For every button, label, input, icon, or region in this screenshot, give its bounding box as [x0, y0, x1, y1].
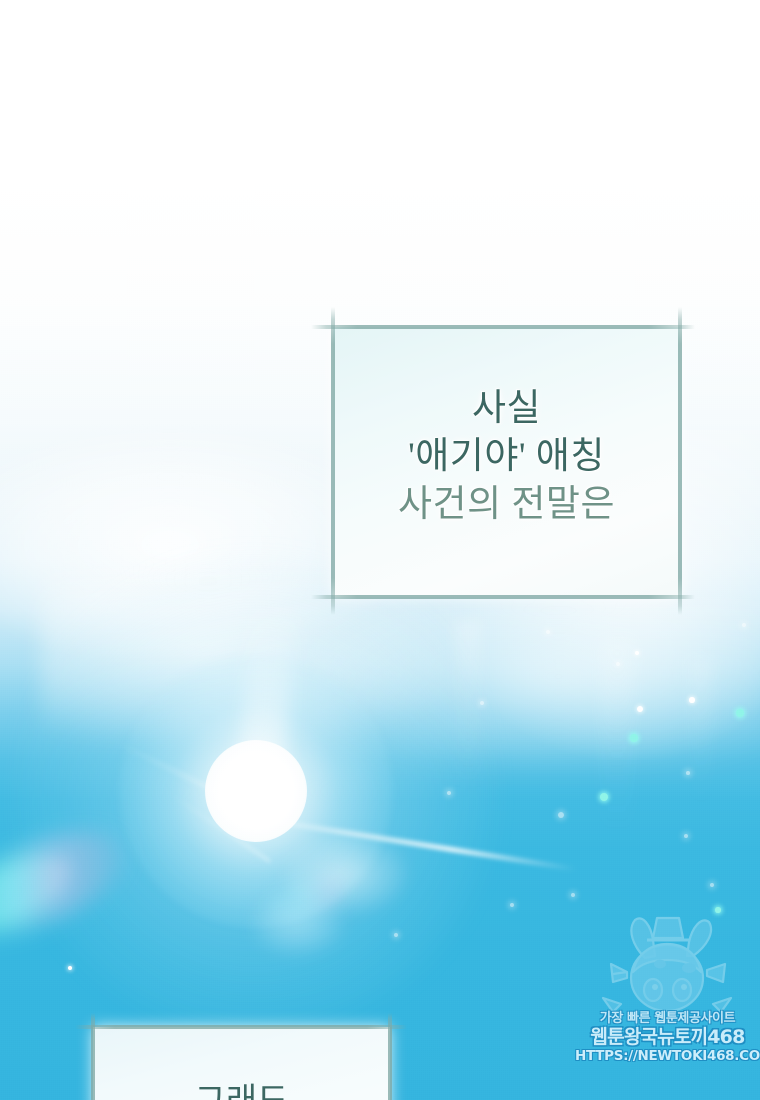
panel-border-top: [311, 325, 695, 329]
sparkle-9: [558, 812, 564, 818]
bottom-panel-text: 그래도: [93, 1073, 390, 1100]
sparkle-7: [686, 771, 690, 775]
panel-border-bottom: [311, 595, 695, 599]
bottom-panel-border-top: [75, 1025, 407, 1029]
sparkle-2: [616, 662, 620, 666]
sparkle-10: [684, 834, 688, 838]
narration-line-2: '애기야' 애칭: [333, 433, 680, 481]
bottom-panel: 그래도: [93, 1027, 390, 1100]
narration-line-1: 사실: [333, 385, 680, 433]
sparkle-14: [480, 701, 484, 705]
narration-panel: 사실 '애기야' 애칭 사건의 전말은: [333, 327, 680, 597]
narration-text: 사실 '애기야' 애칭 사건의 전말은: [333, 385, 680, 529]
sparkle-13: [715, 907, 720, 912]
comic-page: 사실 '애기야' 애칭 사건의 전말은 그래도: [0, 0, 760, 1100]
sparkle-6: [630, 734, 638, 742]
sparkle-17: [510, 903, 514, 907]
narration-line-3: 사건의 전말은: [333, 481, 680, 529]
sparkle-0: [546, 630, 550, 634]
sparkle-3: [689, 697, 694, 702]
sparkle-19: [742, 623, 746, 627]
